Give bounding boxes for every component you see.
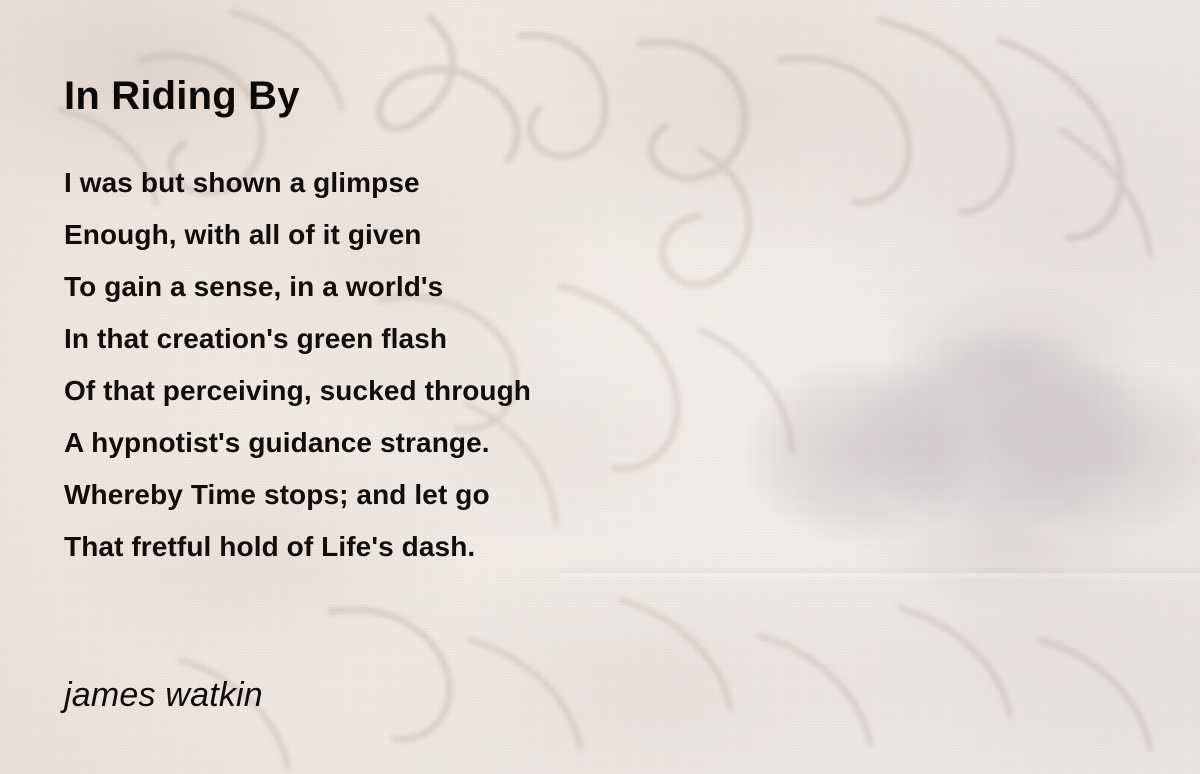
poem-author: james watkin (64, 676, 263, 715)
poem-line: A hypnotist's guidance strange. (64, 417, 824, 469)
poem-line: To gain a sense, in a world's (64, 261, 824, 313)
poem-body: I was but shown a glimpse Enough, with a… (64, 157, 824, 573)
poem-line: In that creation's green flash (64, 313, 824, 365)
poem-title: In Riding By (64, 74, 300, 119)
poem-line: Of that perceiving, sucked through (64, 365, 824, 417)
poem-line: I was but shown a glimpse (64, 157, 824, 209)
poem-line: Whereby Time stops; and let go (64, 469, 824, 521)
poem-line: That fretful hold of Life's dash. (64, 521, 824, 573)
poem-line: Enough, with all of it given (64, 209, 824, 261)
poem-content: In Riding By I was but shown a glimpse E… (0, 0, 1200, 774)
poem-page: In Riding By I was but shown a glimpse E… (0, 0, 1200, 774)
